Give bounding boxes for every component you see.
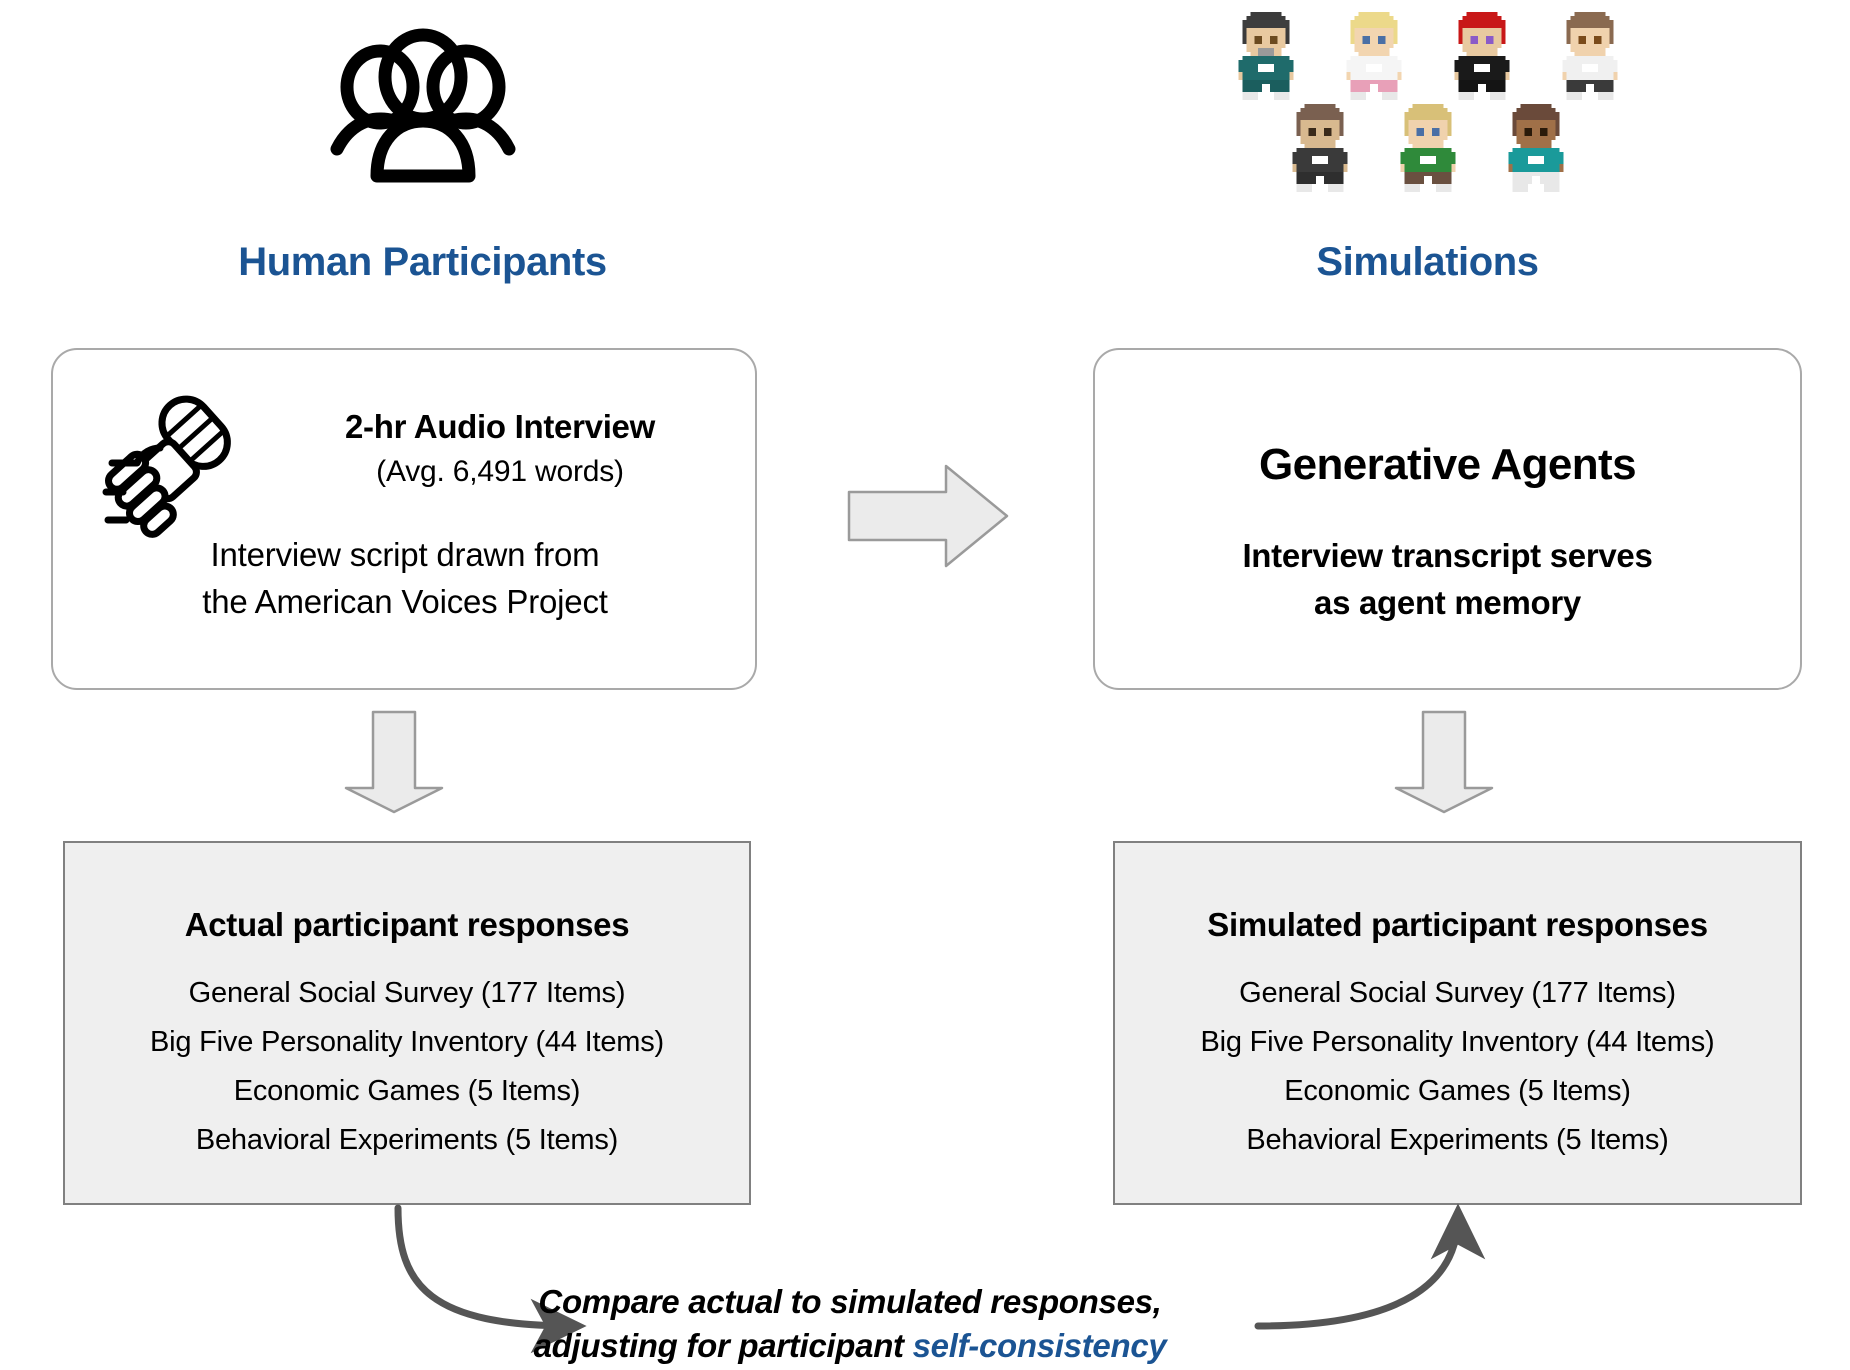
- list-item: General Social Survey (177 Items): [63, 979, 751, 1008]
- sprite-brown-hair-man: [1547, 12, 1633, 100]
- transfer-right-arrow-icon: [845, 462, 1011, 570]
- compare-in-arrow: [1258, 1216, 1458, 1326]
- agents-body-line-2: as agent memory: [1093, 580, 1802, 627]
- agents-body-line-1: Interview transcript serves: [1093, 533, 1802, 580]
- generative-agents-body: Interview transcript serves as agent mem…: [1093, 533, 1802, 627]
- simulation-down-arrow-icon: [1390, 708, 1498, 816]
- sprite-blonde-woman: [1331, 12, 1417, 100]
- caption-line-1: Compare actual to simulated responses,: [480, 1280, 1220, 1324]
- self-consistency-term: self-consistency: [913, 1327, 1167, 1364]
- list-item: Behavioral Experiments (5 Items): [1113, 1126, 1802, 1155]
- list-item: General Social Survey (177 Items): [1113, 979, 1802, 1008]
- interview-body-line-1: Interview script drawn from: [120, 532, 690, 579]
- group-of-people-icon: [0, 15, 845, 195]
- list-item: Big Five Personality Inventory (44 Items…: [1113, 1028, 1802, 1057]
- sprite-suit-man: [1277, 104, 1363, 192]
- list-item: Behavioral Experiments (5 Items): [63, 1126, 751, 1155]
- interview-body: Interview script drawn from the American…: [120, 532, 690, 626]
- actual-responses-heading: Actual participant responses: [63, 906, 751, 944]
- generative-agents-heading: Generative Agents: [1093, 440, 1802, 490]
- human-down-arrow-icon: [340, 708, 448, 816]
- sprite-spiky-blond-man: [1385, 104, 1471, 192]
- list-item: Big Five Personality Inventory (44 Items…: [63, 1028, 751, 1057]
- simulated-responses-list: General Social Survey (177 Items) Big Fi…: [1113, 979, 1802, 1155]
- interview-body-line-2: the American Voices Project: [120, 579, 690, 626]
- sprite-bearded-hat-man: [1223, 12, 1309, 100]
- simulations-title: Simulations: [1005, 240, 1850, 285]
- caption-line-2: adjusting for participant self-consisten…: [480, 1324, 1220, 1368]
- caption-line-2-plain: adjusting for participant: [534, 1327, 913, 1364]
- list-item: Economic Games (5 Items): [63, 1077, 751, 1106]
- hand-holding-microphone-icon: [96, 390, 246, 550]
- actual-responses-list: General Social Survey (177 Items) Big Fi…: [63, 979, 751, 1155]
- human-participants-title: Human Participants: [0, 240, 845, 285]
- sprite-dark-skin-person: [1493, 104, 1579, 192]
- interview-heading: 2-hr Audio Interview: [280, 408, 720, 446]
- comparison-caption: Compare actual to simulated responses, a…: [480, 1280, 1220, 1368]
- figure-canvas: Human Participants Simulations: [0, 0, 1850, 1370]
- pixel-agent-sprites: [1005, 12, 1850, 207]
- interview-subheading: (Avg. 6,491 words): [280, 455, 720, 489]
- list-item: Economic Games (5 Items): [1113, 1077, 1802, 1106]
- generative-agents-card: [1093, 348, 1802, 690]
- sprite-red-hair-person: [1439, 12, 1525, 100]
- simulated-responses-heading: Simulated participant responses: [1113, 906, 1802, 944]
